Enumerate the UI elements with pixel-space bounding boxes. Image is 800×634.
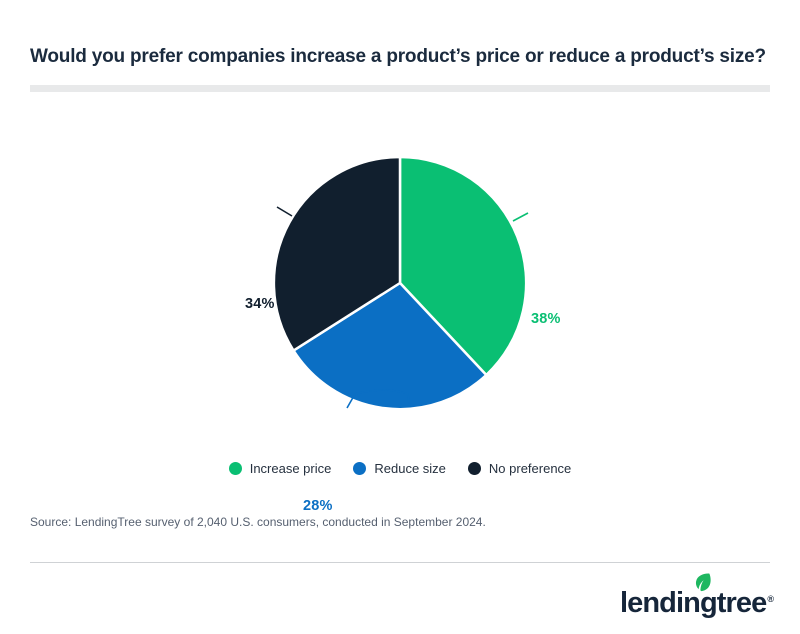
legend-dot-icon-reduce-size — [353, 462, 366, 475]
footer-divider — [30, 562, 770, 563]
data-label-increase-price: 38% — [531, 311, 561, 327]
chart-legend: Increase price Reduce size No preference — [0, 461, 800, 476]
legend-item-no-preference[interactable]: No preference — [468, 461, 571, 476]
logo-wordmark: lendingtree — [620, 588, 766, 618]
infographic-page: Would you prefer companies increase a pr… — [0, 0, 800, 634]
page-title: Would you prefer companies increase a pr… — [30, 44, 775, 70]
legend-label-no-preference: No preference — [489, 461, 571, 476]
data-label-no-preference: 34% — [245, 296, 275, 312]
source-note: Source: LendingTree survey of 2,040 U.S.… — [30, 515, 486, 529]
pie-chart-svg — [0, 100, 800, 440]
legend-dot-icon-increase-price — [229, 462, 242, 475]
lendingtree-logo[interactable]: lendingtree ® — [620, 578, 774, 618]
leader-line-no-preference — [277, 207, 292, 216]
leader-line-increase-price — [513, 213, 528, 221]
leaf-icon — [694, 573, 711, 592]
legend-label-increase-price: Increase price — [250, 461, 332, 476]
pie-chart: 38% 28% 34% — [0, 100, 800, 440]
legend-item-reduce-size[interactable]: Reduce size — [353, 461, 446, 476]
logo-trademark-symbol: ® — [767, 594, 774, 604]
legend-dot-icon-no-preference — [468, 462, 481, 475]
legend-item-increase-price[interactable]: Increase price — [229, 461, 332, 476]
data-label-reduce-size: 28% — [303, 498, 333, 514]
legend-label-reduce-size: Reduce size — [374, 461, 446, 476]
title-divider — [30, 85, 770, 92]
